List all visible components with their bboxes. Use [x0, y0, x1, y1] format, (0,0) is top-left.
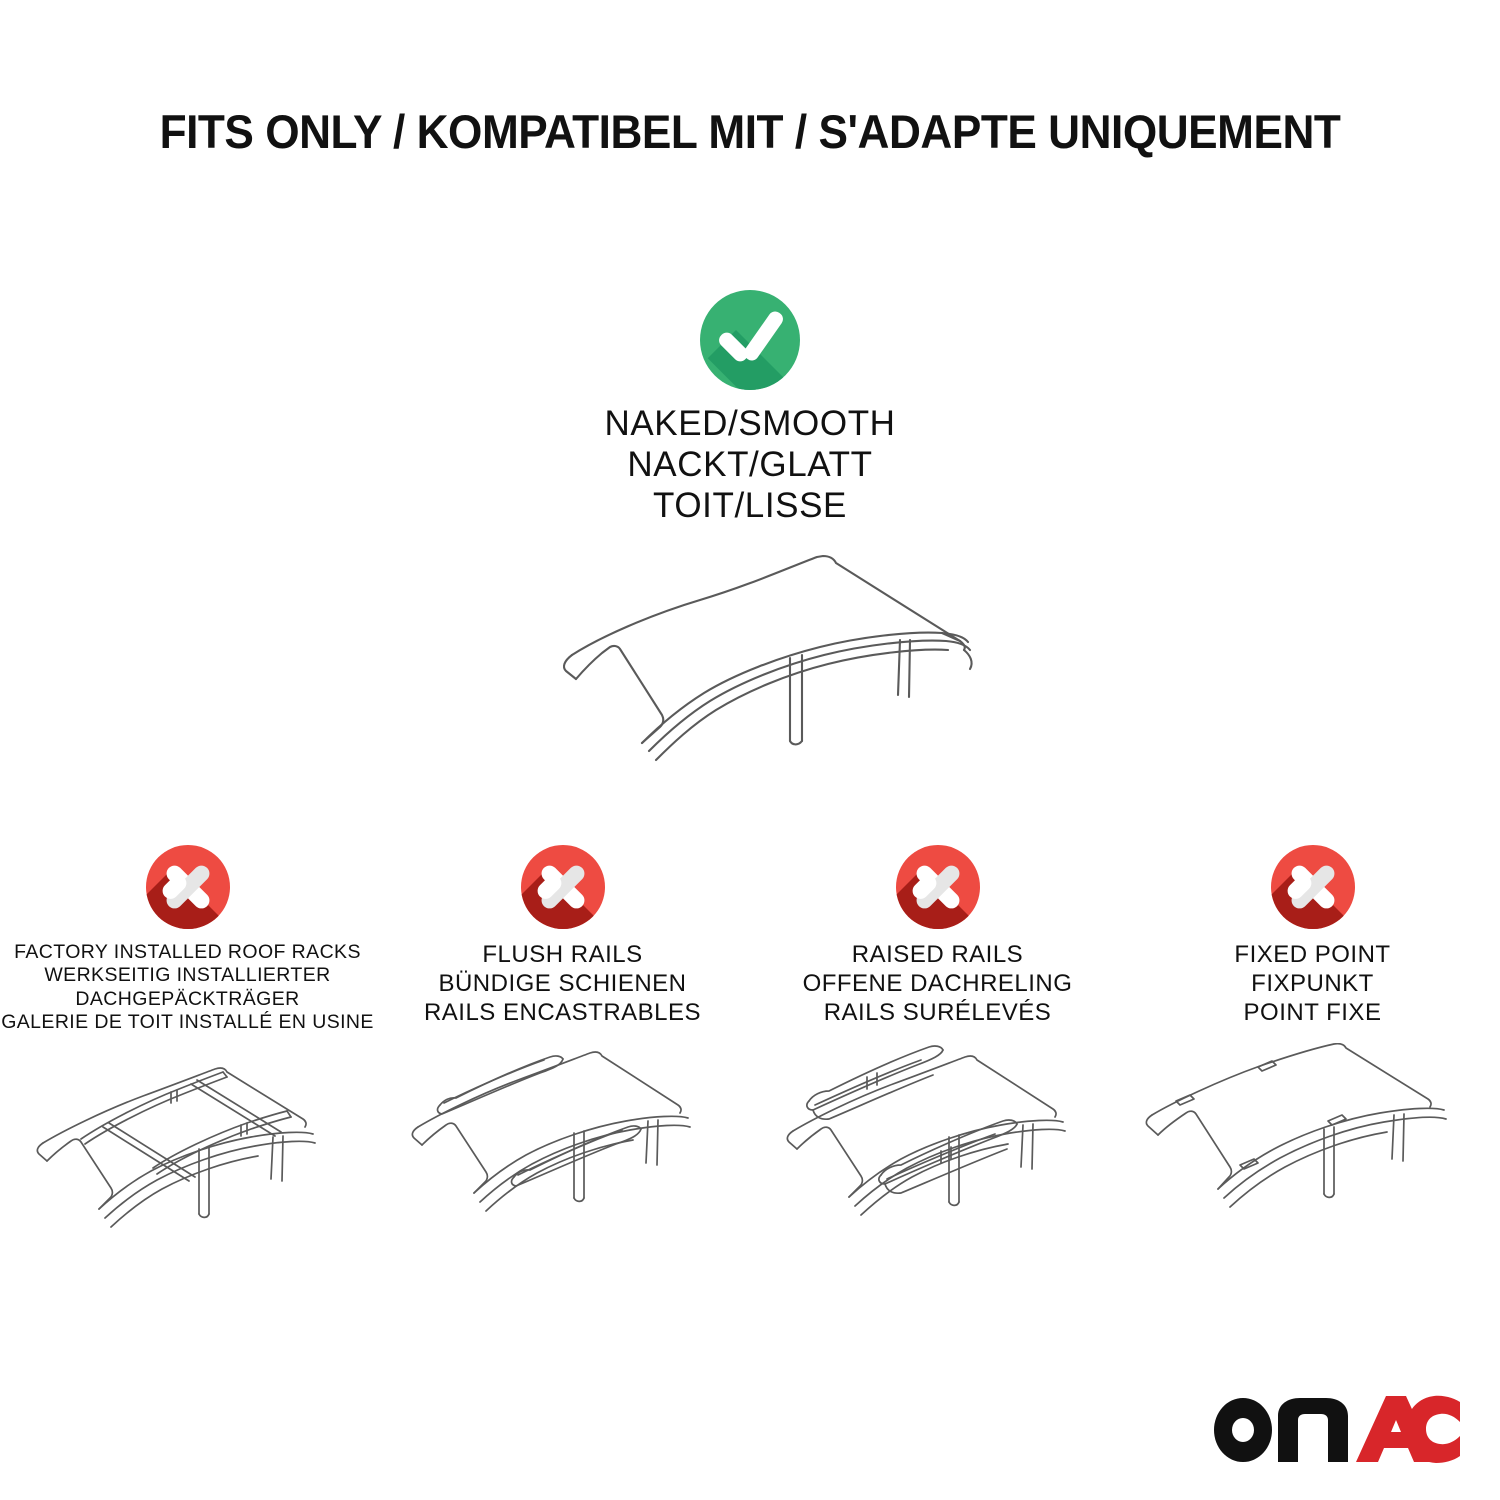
incompatible-label-de1: WERKSEITIG INSTALLIERTER — [1, 964, 374, 987]
x-circle-icon — [1271, 845, 1355, 929]
x-circle-icon — [146, 845, 230, 929]
x-glyph — [534, 858, 592, 916]
x-glyph — [159, 858, 217, 916]
incompatible-section: FACTORY INSTALLED ROOF RACKS WERKSEITIG … — [0, 845, 1500, 1286]
compatible-section: NAKED/SMOOTH NACKT/GLATT TOIT/LISSE — [0, 290, 1500, 830]
omac-logo-mark — [1210, 1394, 1460, 1466]
incompatible-item-raised-rails: RAISED RAILS OFFENE DACHRELING RAILS SUR… — [750, 845, 1125, 1278]
incompatible-item-factory-rack: FACTORY INSTALLED ROOF RACKS WERKSEITIG … — [0, 845, 375, 1286]
car-roof-naked-smooth-illustration — [490, 545, 1010, 830]
car-roof-flush-rails-illustration — [378, 1043, 748, 1278]
incompatible-item-flush-rails: FLUSH RAILS BÜNDIGE SCHIENEN RAILS ENCAS… — [375, 845, 750, 1278]
x-glyph — [1284, 858, 1342, 916]
omac-logo — [1210, 1394, 1460, 1466]
check-circle-icon — [700, 290, 800, 390]
incompatible-label-en: FIXED POINT — [1234, 941, 1390, 970]
compatible-label: NAKED/SMOOTH NACKT/GLATT TOIT/LISSE — [604, 404, 895, 527]
incompatible-label: FIXED POINT FIXPUNKT POINT FIXE — [1234, 941, 1390, 1027]
incompatible-label-fr: POINT FIXE — [1234, 999, 1390, 1028]
incompatible-label-en: FLUSH RAILS — [424, 941, 701, 970]
infographic-page: FITS ONLY / KOMPATIBEL MIT / S'ADAPTE UN… — [0, 0, 1500, 1500]
incompatible-label-fr: GALERIE DE TOIT INSTALLÉ EN USINE — [1, 1011, 374, 1034]
incompatible-label-en: FACTORY INSTALLED ROOF RACKS — [1, 941, 374, 964]
incompatible-label-de: BÜNDIGE SCHIENEN — [424, 970, 701, 999]
page-title: FITS ONLY / KOMPATIBEL MIT / S'ADAPTE UN… — [45, 104, 1455, 159]
car-roof-fixed-point-illustration — [1128, 1043, 1498, 1278]
car-roof-factory-rack-illustration — [3, 1051, 373, 1286]
check-glyph — [724, 316, 776, 348]
incompatible-label: RAISED RAILS OFFENE DACHRELING RAILS SUR… — [803, 941, 1073, 1027]
x-circle-icon — [896, 845, 980, 929]
x-circle-icon — [521, 845, 605, 929]
incompatible-label: FACTORY INSTALLED ROOF RACKS WERKSEITIG … — [1, 941, 374, 1035]
car-roof-raised-rails-illustration — [753, 1043, 1123, 1278]
compatible-label-en: NAKED/SMOOTH — [604, 404, 895, 445]
compatible-label-de: NACKT/GLATT — [604, 445, 895, 486]
incompatible-label-de: FIXPUNKT — [1234, 970, 1390, 999]
incompatible-item-fixed-point: FIXED POINT FIXPUNKT POINT FIXE — [1125, 845, 1500, 1278]
incompatible-label: FLUSH RAILS BÜNDIGE SCHIENEN RAILS ENCAS… — [424, 941, 701, 1027]
incompatible-label-en: RAISED RAILS — [803, 941, 1073, 970]
x-glyph — [909, 858, 967, 916]
incompatible-label-fr: RAILS SURÉLEVÉS — [803, 999, 1073, 1028]
compatible-label-fr: TOIT/LISSE — [604, 486, 895, 527]
incompatible-label-de: OFFENE DACHRELING — [803, 970, 1073, 999]
incompatible-label-fr: RAILS ENCASTRABLES — [424, 999, 701, 1028]
incompatible-label-de2: DACHGEPÄCKTRÄGER — [1, 988, 374, 1011]
